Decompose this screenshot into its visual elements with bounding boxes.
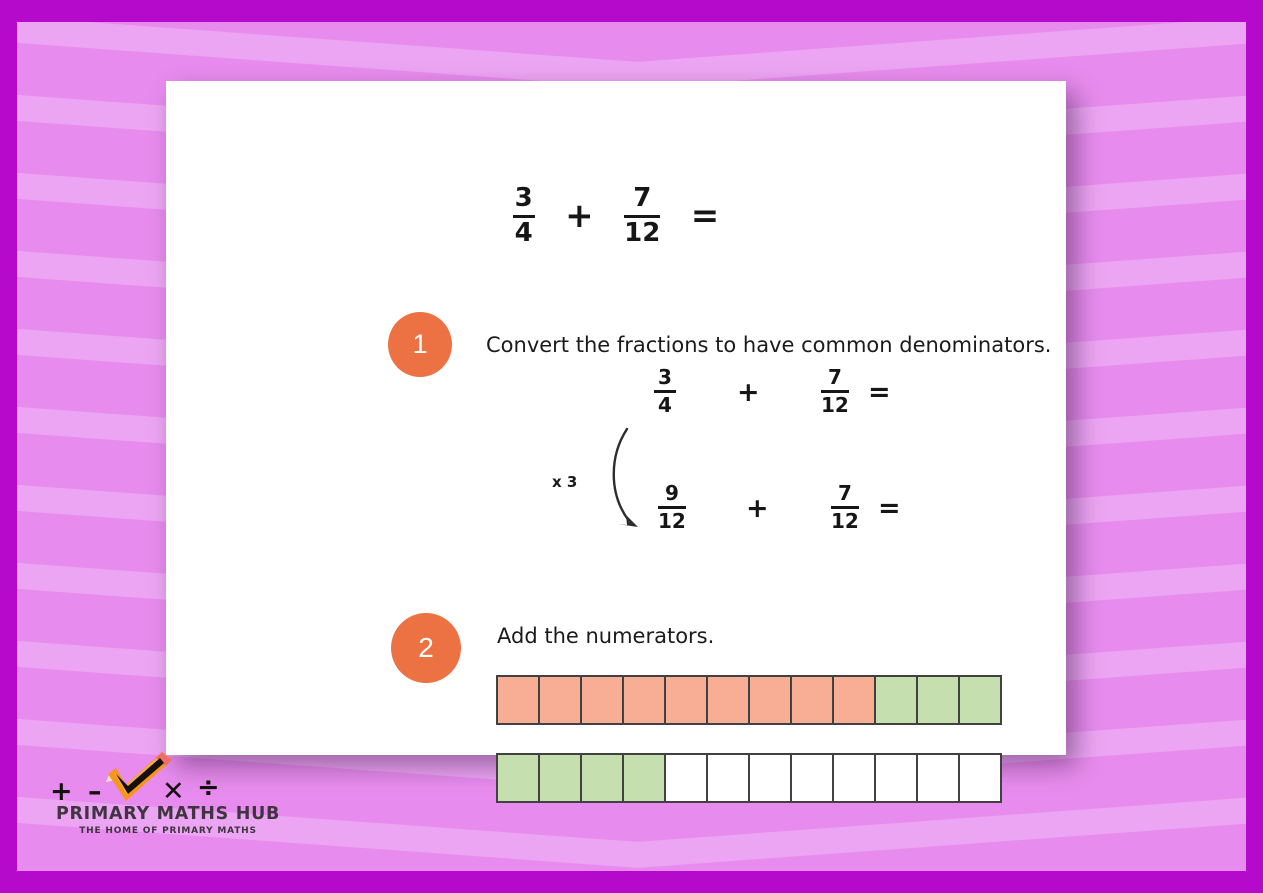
equals-operator: = [691,196,720,236]
step-badge-1: 1 [388,312,452,377]
fraction-cell-blank [874,753,918,803]
fraction-cell-green [580,753,624,803]
pencil-checkmark-icon [104,752,176,804]
row1-plus-operator: + [737,377,760,408]
numerator: 3 [515,185,533,213]
fraction-cell-blank [664,753,708,803]
fraction-cell-orange [664,675,708,725]
fraction-cell-orange [748,675,792,725]
fraction-cell-green [538,753,582,803]
title-fraction-left: 3 4 [513,185,535,247]
primary-maths-hub-logo: + – ✕ ÷ PRIMARY MATHS HUB THE HOME OF PR… [42,752,302,842]
fraction-cell-blank [958,753,1002,803]
plus-operator: + [565,196,594,236]
logo-subtitle: THE HOME OF PRIMARY MATHS [42,826,294,836]
fraction-bar-strip-1 [496,675,1000,725]
divide-icon: ÷ [197,774,220,801]
title-equation: 3 4 + 7 12 = [166,185,1066,247]
denominator: 12 [831,511,859,532]
plus-icon: + [50,778,73,805]
denominator: 12 [821,395,849,416]
multiply-arrow-icon [596,421,656,541]
row2-fraction-left: 9 12 [658,483,686,532]
numerator: 7 [828,367,842,388]
fraction-cell-blank [748,753,792,803]
fraction-cell-blank [790,753,834,803]
fraction-cell-orange [538,675,582,725]
denominator: 12 [624,220,660,248]
row1-fraction-left: 3 4 [654,367,676,416]
fraction-cell-orange [790,675,834,725]
numerator: 9 [665,483,679,504]
row2-fraction-right: 7 12 [831,483,859,532]
fraction-cell-orange [622,675,666,725]
step-badge-2: 2 [391,613,461,683]
step-2-instruction: Add the numerators. [497,624,714,648]
fraction-cell-blank [916,753,960,803]
numerator: 7 [838,483,852,504]
fraction-cell-green [958,675,1002,725]
denominator: 12 [658,511,686,532]
numerator: 3 [658,367,672,388]
fraction-cell-green [916,675,960,725]
logo-title: PRIMARY MATHS HUB [42,804,294,824]
fraction-cell-blank [706,753,750,803]
fraction-cell-green [874,675,918,725]
step-1-instruction: Convert the fractions to have common den… [486,333,1051,357]
fraction-cell-orange [496,675,540,725]
fraction-cell-green [496,753,540,803]
fraction-cell-green [622,753,666,803]
title-fraction-right: 7 12 [624,185,660,247]
fraction-cell-orange [706,675,750,725]
fraction-cell-blank [832,753,876,803]
step-number: 1 [412,329,427,360]
row2-plus-operator: + [746,493,769,524]
fraction-cell-orange [832,675,876,725]
numerator: 7 [633,185,651,213]
denominator: 4 [658,395,672,416]
row1-equals-operator: = [868,377,891,408]
row2-equals-operator: = [878,493,901,524]
step-number: 2 [418,632,434,664]
slide-root: 3 4 + 7 12 = 1 Convert the fractions to … [0,0,1263,893]
row1-fraction-right: 7 12 [821,367,849,416]
denominator: 4 [515,220,533,248]
fraction-bar-strip-2 [496,753,1000,803]
fraction-cell-orange [580,675,624,725]
multiplier-label: x 3 [552,473,577,491]
minus-icon: – [88,778,102,805]
lesson-card: 3 4 + 7 12 = 1 Convert the fractions to … [166,81,1066,755]
